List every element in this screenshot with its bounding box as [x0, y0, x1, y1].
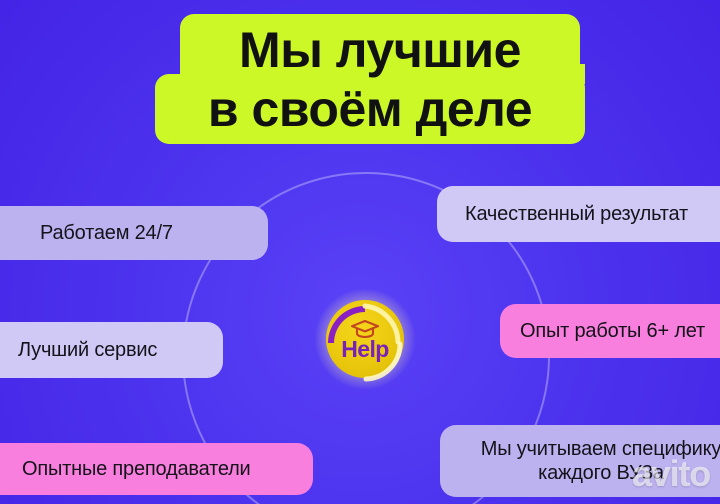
feature-card-experience-years[interactable]: Опыт работы 6+ лет — [500, 304, 720, 358]
feature-card-experienced-teachers[interactable]: Опытные преподаватели — [0, 443, 313, 495]
feature-card-label: Лучший сервис — [18, 339, 157, 362]
logo-text: Help — [341, 338, 388, 361]
feature-card-university-specifics[interactable]: Мы учитываем специфику каждого ВУЗа — [440, 425, 720, 497]
title-text-line-1: Мы лучшие — [239, 25, 521, 75]
feature-card-quality-result[interactable]: Качественный результат — [437, 186, 720, 242]
promo-banner: Мы лучшие в своём деле Работаем 24/7 Луч… — [0, 0, 720, 504]
feature-card-label: Мы учитываем специфику каждого ВУЗа — [481, 437, 720, 486]
feature-card-label-line-1: Мы учитываем специфику — [481, 438, 720, 460]
feature-card-label: Опытные преподаватели — [22, 458, 251, 481]
feature-card-label: Качественный результат — [465, 203, 688, 226]
logo-content: Help — [322, 296, 408, 382]
help-logo[interactable]: Help — [322, 296, 408, 382]
feature-card-label: Работаем 24/7 — [40, 222, 173, 245]
title-badge-line-1: Мы лучшие — [180, 14, 580, 82]
title-text-line-2: в своём деле — [208, 84, 532, 134]
page-title: Мы лучшие в своём деле — [0, 0, 720, 152]
title-badge-line-2: в своём деле — [155, 74, 585, 144]
feature-card-label: Опыт работы 6+ лет — [520, 320, 705, 343]
feature-card-work-247[interactable]: Работаем 24/7 — [0, 206, 268, 260]
feature-card-best-service[interactable]: Лучший сервис — [0, 322, 223, 378]
feature-card-label-line-2: каждого ВУЗа — [538, 462, 664, 484]
